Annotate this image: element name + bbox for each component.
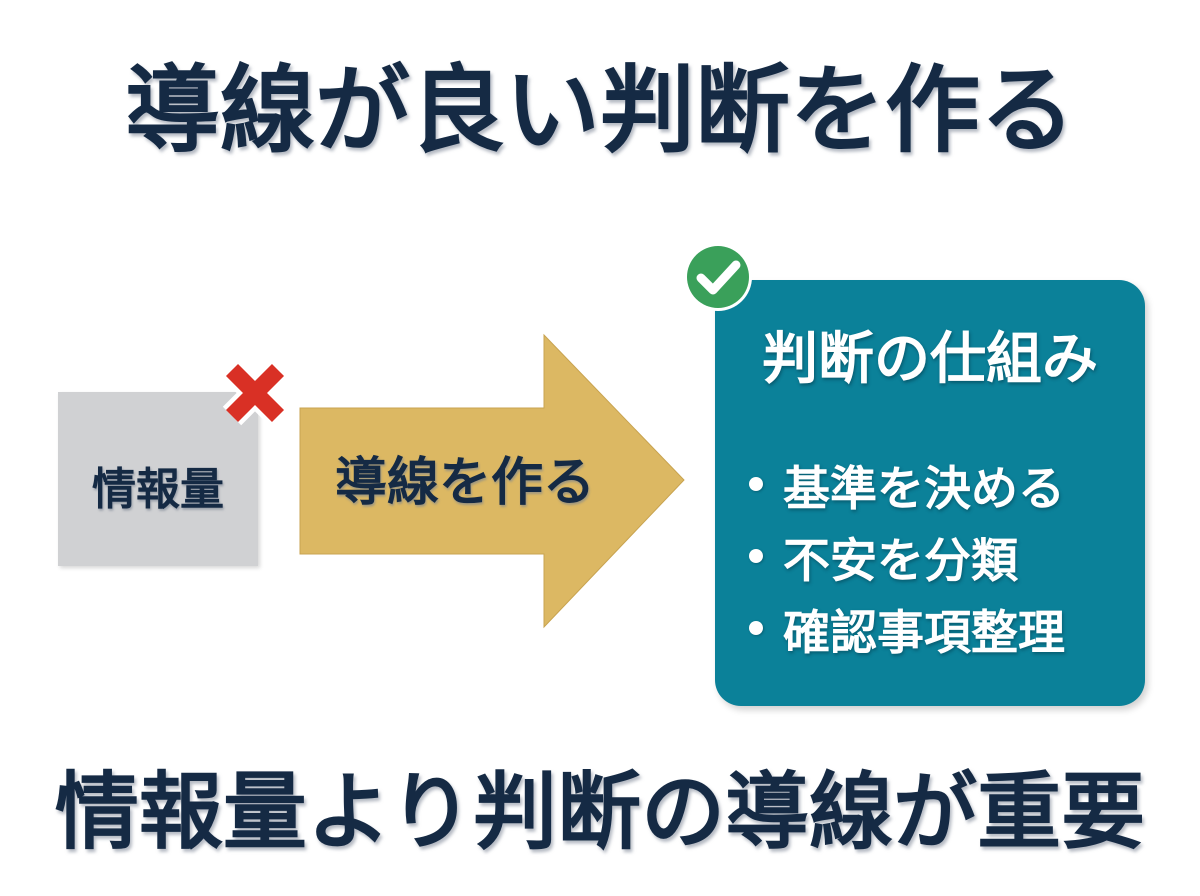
list-item: 基準を決める	[749, 448, 1145, 520]
bullet-icon	[749, 549, 763, 563]
summary-text: 情報量より判断の導線が重要	[0, 760, 1200, 864]
list-item-label: 確認事項整理	[783, 594, 1065, 663]
list-item-label: 基準を決める	[783, 450, 1065, 519]
process-arrow-label: 導線を作る	[300, 440, 630, 515]
list-item-label: 不安を分類	[783, 522, 1018, 591]
red-x-icon	[212, 356, 298, 442]
list-item: 不安を分類	[749, 520, 1145, 592]
bullet-icon	[749, 621, 763, 635]
bullet-icon	[749, 477, 763, 491]
source-box-label: 情報量	[92, 453, 224, 517]
outcome-card: 判断の仕組み 基準を決める 不安を分類 確認事項整理	[715, 280, 1145, 706]
slide-canvas: 導線が良い判断を作る 情報量 導線を作る 判断の仕組み 基準を決める	[0, 0, 1200, 896]
page-title: 導線が良い判断を作る	[0, 52, 1200, 170]
green-check-icon	[682, 241, 754, 313]
outcome-card-title: 判断の仕組み	[715, 328, 1145, 392]
outcome-card-list: 基準を決める 不安を分類 確認事項整理	[749, 448, 1145, 664]
list-item: 確認事項整理	[749, 592, 1145, 664]
